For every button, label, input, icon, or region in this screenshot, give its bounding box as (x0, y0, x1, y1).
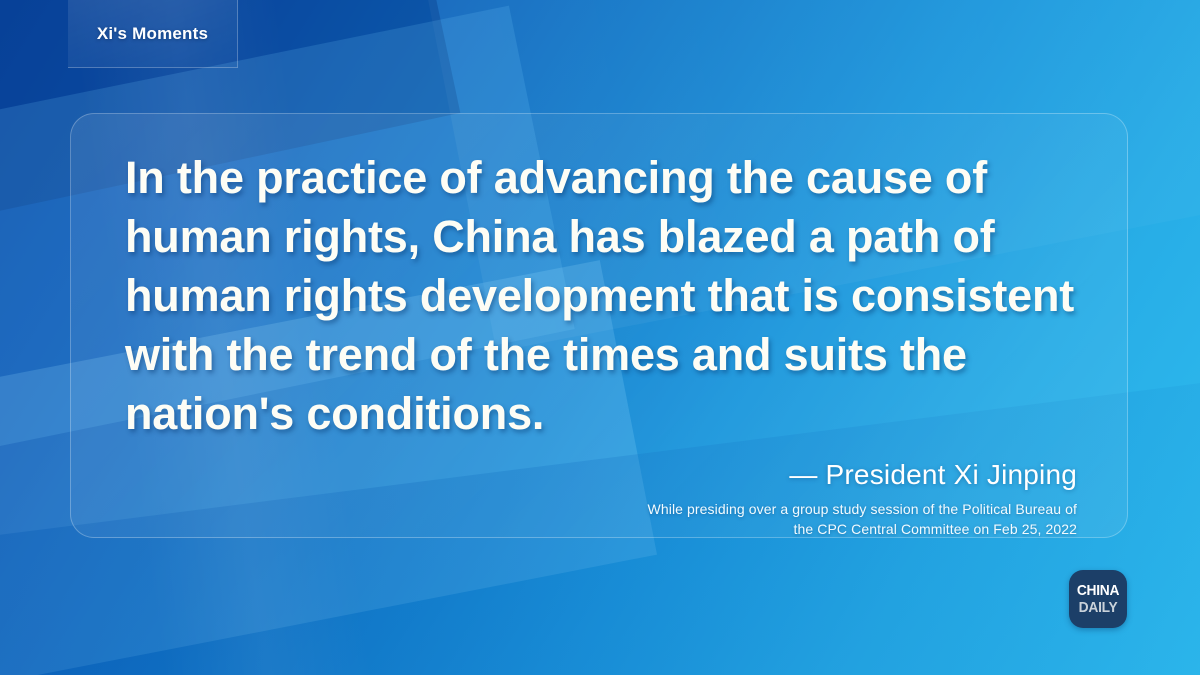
quote-line: In the practice of advancing the cause o… (125, 148, 1091, 207)
tab-label: Xi's Moments (97, 24, 208, 44)
quote-line: with the trend of the times and suits th… (125, 325, 1091, 384)
quote-text: In the practice of advancing the cause o… (125, 148, 1091, 443)
caption-line: While presiding over a group study sessi… (125, 499, 1077, 519)
caption-line: the CPC Central Committee on Feb 25, 202… (125, 519, 1077, 539)
quote-line: human rights development that is consist… (125, 266, 1091, 325)
quote-line: nation's conditions. (125, 384, 1091, 443)
attribution-speaker: — President Xi Jinping (125, 459, 1077, 491)
logo-line-daily: DAILY (1079, 600, 1118, 615)
attribution-block: — President Xi Jinping While presiding o… (125, 459, 1091, 539)
quote-card: In the practice of advancing the cause o… (70, 113, 1128, 538)
logo-line-china: CHINA (1077, 583, 1119, 598)
xis-moments-tab[interactable]: Xi's Moments (68, 0, 238, 68)
poster-canvas: Xi's Moments In the practice of advancin… (0, 0, 1200, 675)
attribution-caption: While presiding over a group study sessi… (125, 499, 1077, 539)
china-daily-logo: CHINA DAILY (1069, 570, 1127, 628)
quote-line: human rights, China has blazed a path of (125, 207, 1091, 266)
